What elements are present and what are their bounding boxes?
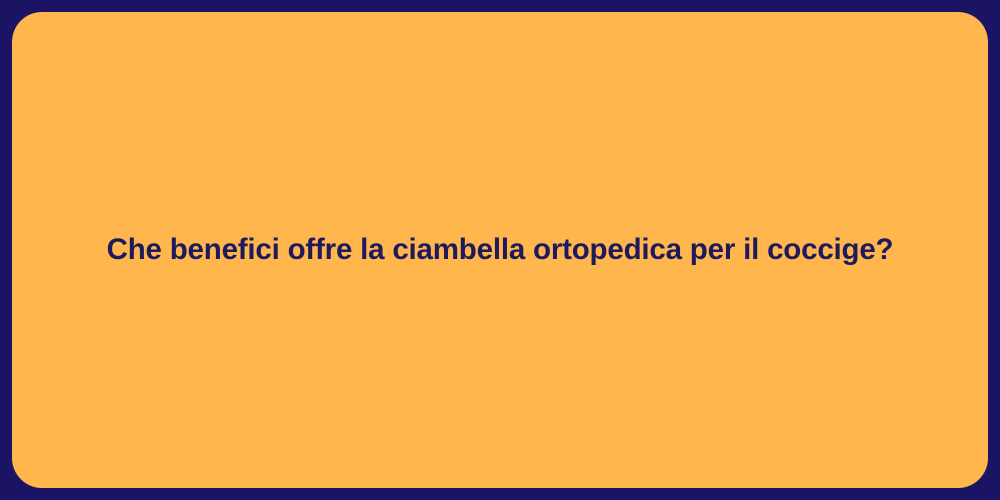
headline-text: Che benefici offre la ciambella ortopedi… xyxy=(107,232,894,269)
question-card: Che benefici offre la ciambella ortopedi… xyxy=(12,12,988,488)
page-frame: Che benefici offre la ciambella ortopedi… xyxy=(0,0,1000,500)
